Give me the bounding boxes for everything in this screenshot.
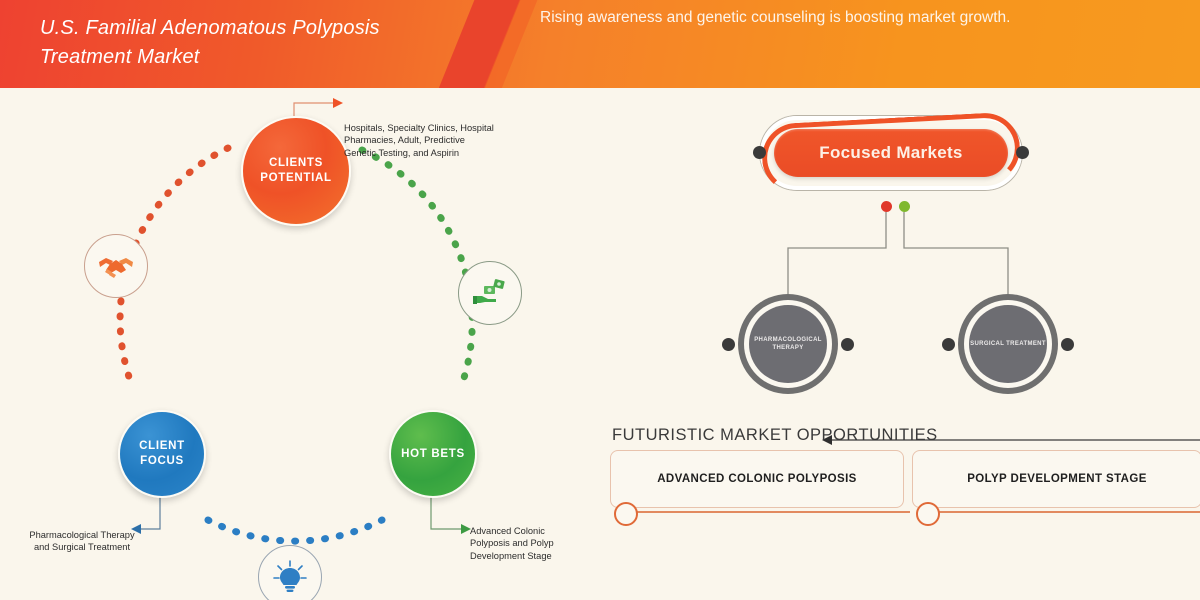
branch-surgical-treatment-label: SURGICAL TREATMENT <box>970 340 1046 348</box>
wheel-node-clients-potential-label: CLIENTS POTENTIAL <box>243 156 349 186</box>
futuristic-opportunities-title: FUTURISTIC MARKET OPPORTUNITIES <box>612 426 938 445</box>
opportunity-marker-b <box>916 502 940 526</box>
opportunity-marker-a <box>614 502 638 526</box>
branch-pharmacological-therapy-label: PHARMACOLOGICAL THERAPY <box>749 336 827 352</box>
seed-dot-red <box>881 201 892 212</box>
opportunity-baseline-a <box>630 511 910 513</box>
focused-markets-pill[interactable]: Focused Markets <box>774 129 1008 177</box>
branch-pin-left <box>942 338 955 351</box>
focused-markets-pin-left <box>753 146 766 159</box>
branch-pin-right <box>841 338 854 351</box>
lightbulb-icon <box>271 558 309 596</box>
branch-pharmacological-therapy-label-wrap: PHARMACOLOGICAL THERAPY <box>749 305 827 383</box>
opportunity-card-polyp-development-stage[interactable]: POLYP DEVELOPMENT STAGE <box>912 450 1200 508</box>
branch-pin-right <box>1061 338 1074 351</box>
branch-pharmacological-therapy[interactable]: PHARMACOLOGICAL THERAPY <box>738 294 838 394</box>
callout-hot-bets: Advanced Colonic Polyposis and Polyp Dev… <box>470 525 580 562</box>
branch-surgical-treatment-label-wrap: SURGICAL TREATMENT <box>969 305 1047 383</box>
opportunity-card-advanced-colonic-polyposis[interactable]: ADVANCED COLONIC POLYPOSIS <box>610 450 904 508</box>
handshake-icon-badge <box>84 234 148 298</box>
seed-dot-green <box>899 201 910 212</box>
header-subtitle: Rising awareness and genetic counseling … <box>540 6 1140 29</box>
focused-markets-header[interactable]: Focused Markets <box>760 116 1022 190</box>
infographic-root: U.S. Familial Adenomatous Polyposis Trea… <box>0 0 1200 600</box>
opportunity-baseline-b <box>932 511 1200 513</box>
page-title: U.S. Familial Adenomatous Polyposis Trea… <box>40 14 440 72</box>
branch-surgical-treatment[interactable]: SURGICAL TREATMENT <box>958 294 1058 394</box>
header-banner: U.S. Familial Adenomatous Polyposis Trea… <box>0 0 1200 88</box>
wheel-node-hot-bets-label: HOT BETS <box>401 447 465 462</box>
focused-markets-panel: Focused Markets PHARMACOLOGICAL THERAPY <box>600 88 1200 600</box>
lightbulb-icon-badge <box>258 545 322 600</box>
opportunity-card-polyp-development-stage-label: POLYP DEVELOPMENT STAGE <box>967 473 1147 485</box>
wheel-node-client-focus-label: CLIENT FOCUS <box>120 439 204 469</box>
handshake-icon <box>97 251 135 281</box>
strategy-wheel: CLIENTS POTENTIAL CLIENT FOCUS HOT BETS <box>0 88 600 600</box>
callout-clients-potential: Hospitals, Specialty Clinics, Hospital P… <box>344 122 494 159</box>
callout-client-focus: Pharmacological Therapy and Surgical Tre… <box>28 529 136 554</box>
focused-markets-pin-right <box>1016 146 1029 159</box>
focused-markets-title: Focused Markets <box>819 143 962 163</box>
wheel-node-hot-bets[interactable]: HOT BETS <box>389 410 477 498</box>
wheel-node-client-focus[interactable]: CLIENT FOCUS <box>118 410 206 498</box>
money-in-hand-icon-badge <box>458 261 522 325</box>
wheel-node-clients-potential[interactable]: CLIENTS POTENTIAL <box>241 116 351 226</box>
money-in-hand-icon <box>471 277 509 309</box>
branch-pin-left <box>722 338 735 351</box>
opportunity-card-advanced-colonic-polyposis-label: ADVANCED COLONIC POLYPOSIS <box>657 473 857 485</box>
